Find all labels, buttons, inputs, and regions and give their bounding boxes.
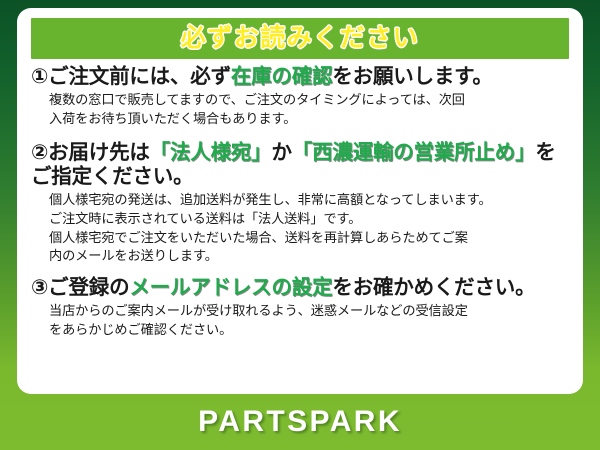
item-2-highlight-seino: 「西濃運輸の営業所止め」 (292, 141, 536, 164)
item-1-head-post: をお願いします。 (332, 65, 492, 88)
notice-item-3: ③ご登録のメールアドレスの設定をお確かめください。 当店からのご案内メールが受け… (27, 276, 573, 340)
notice-title-bar: 必ずお読みください (31, 18, 569, 59)
item-1-head-pre: ご注文前には、必ず (48, 65, 231, 88)
brand-logo-text: PARTSPARK (198, 405, 402, 439)
notice-banner: 必ずお読みください ①ご注文前には、必ず在庫の確認をお願いします。 複数の窓口で… (0, 0, 600, 450)
notice-item-1: ①ご注文前には、必ず在庫の確認をお願いします。 複数の窓口で販売してますので、ご… (27, 65, 573, 129)
item-marker-2: ② (31, 141, 48, 164)
footer-brand-area: PARTSPARK (0, 394, 600, 450)
notice-item-3-body: 当店からのご案内メールが受け取れるよう、迷惑メールなどの受信設定 をあらかじめご… (49, 302, 569, 339)
item-marker-1: ① (31, 65, 48, 88)
item-2-highlight-corporate: 「法人様宛」 (150, 141, 272, 164)
item-1-body-line-1: 複数の窓口で販売してますので、ご注文のタイミングによっては、次回 (49, 91, 569, 110)
item-marker-3: ③ (31, 276, 48, 299)
item-2-body-line-2: ご注文時に表示されている送料は「法人送料」です。 (49, 210, 569, 229)
item-2-body-line-4: 内のメールをお送りします。 (49, 247, 569, 266)
item-1-body-line-2: 入荷をお待ち頂いただく場合もあります。 (49, 110, 569, 129)
item-1-highlight: 在庫の確認 (231, 65, 333, 88)
notice-item-2-body: 個人様宅宛の発送は、追加送料が発生し、非常に高額となってしまいます。 ご注文時に… (49, 191, 569, 266)
item-3-body-line-1: 当店からのご案内メールが受け取れるよう、迷惑メールなどの受信設定 (49, 302, 569, 321)
item-2-body-line-3: 個人様宅宛でご注文をいただいた場合、送料を再計算しあらためてご案 (49, 229, 569, 248)
item-2-head-pre: お届け先は (48, 141, 150, 164)
page-title: 必ずお読みください (181, 26, 420, 51)
notice-item-3-heading: ③ご登録のメールアドレスの設定をお確かめください。 (31, 276, 569, 300)
notice-item-2-heading: ②お届け先は「法人様宛」か「西濃運輸の営業所止め」をご指定ください。 (31, 141, 569, 189)
item-3-head-post: をお確かめください。 (332, 276, 535, 299)
item-3-head-pre: ご登録の (48, 276, 129, 299)
notice-item-1-body: 複数の窓口で販売してますので、ご注文のタイミングによっては、次回 入荷をお待ち頂… (49, 91, 569, 128)
item-2-body-line-1: 個人様宅宛の発送は、追加送料が発生し、非常に高額となってしまいます。 (49, 191, 569, 210)
notice-card: 必ずお読みください ①ご注文前には、必ず在庫の確認をお願いします。 複数の窓口で… (17, 8, 583, 394)
item-3-body-line-2: をあらかじめご確認ください。 (49, 321, 569, 340)
notice-item-2: ②お届け先は「法人様宛」か「西濃運輸の営業所止め」をご指定ください。 個人様宅宛… (27, 141, 573, 266)
item-3-highlight: メールアドレスの設定 (129, 276, 332, 299)
item-2-head-mid: か (271, 141, 291, 164)
notice-item-1-heading: ①ご注文前には、必ず在庫の確認をお願いします。 (31, 65, 569, 89)
